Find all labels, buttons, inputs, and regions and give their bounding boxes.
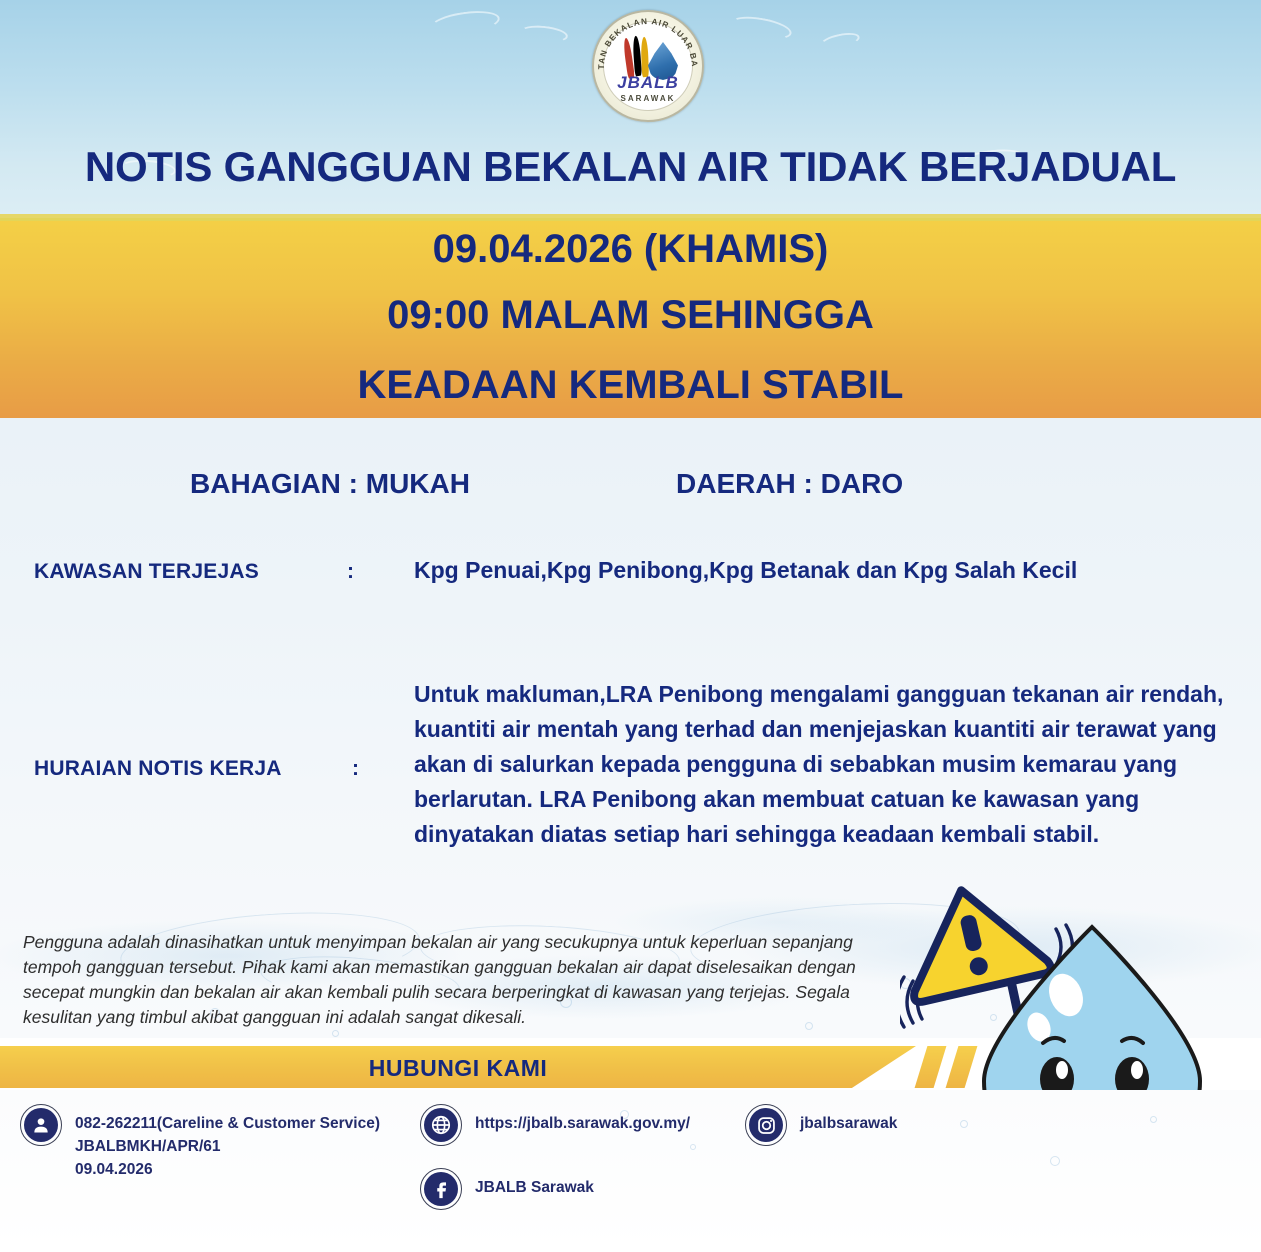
instagram-icon: [745, 1104, 787, 1146]
banner-stripe-1: [915, 1046, 947, 1088]
contact-instagram[interactable]: jbalbsarawak: [745, 1104, 1045, 1146]
kawasan-terjejas-label: KAWASAN TERJEJAS: [34, 560, 259, 584]
contact-facebook[interactable]: JBALB Sarawak: [420, 1168, 740, 1210]
daerah-label: DAERAH : DARO: [676, 468, 903, 500]
notice-time-end: KEADAAN KEMBALI STABIL: [0, 363, 1261, 408]
logo-sarawak-label: SARAWAK: [592, 94, 704, 103]
notice-date: 09.04.2026 (KHAMIS): [0, 227, 1261, 272]
logo-wordmark: JBALB: [592, 73, 704, 93]
huraian-colon: :: [352, 757, 359, 781]
contact-website[interactable]: https://jbalb.sarawak.gov.my/: [420, 1104, 740, 1146]
bahagian-label: BAHAGIAN : MUKAH: [190, 468, 470, 500]
contact-banner-title: HUBUNGI KAMI: [0, 1055, 916, 1082]
header-blue-band: JABATAN BEKALAN AIR LUAR BANDAR JBALB SA…: [0, 0, 1261, 218]
page-title: NOTIS GANGGUAN BEKALAN AIR TIDAK BERJADU…: [0, 143, 1261, 191]
kawasan-terjejas-value: Kpg Penuai,Kpg Penibong,Kpg Betanak dan …: [414, 557, 1077, 584]
contact-phone-text: 082-262211(Careline & Customer Service) …: [75, 1104, 380, 1181]
warning-triangle-icon: [900, 885, 1052, 1003]
kawasan-colon: :: [347, 560, 354, 584]
contact-website-text: https://jbalb.sarawak.gov.my/: [475, 1104, 690, 1135]
contact-facebook-text: JBALB Sarawak: [475, 1168, 594, 1199]
contact-banner: HUBUNGI KAMI: [0, 1046, 1000, 1088]
notice-time-start: 09:00 MALAM SEHINGGA: [0, 293, 1261, 338]
person-icon: [20, 1104, 62, 1146]
huraian-notis-kerja-label: HURAIAN NOTIS KERJA: [34, 757, 282, 781]
water-disruption-notice-poster: JABATAN BEKALAN AIR LUAR BANDAR JBALB SA…: [0, 0, 1261, 1252]
disclaimer-text: Pengguna adalah dinasihatkan untuk menyi…: [23, 930, 908, 1030]
jbalb-logo: JABATAN BEKALAN AIR LUAR BANDAR JBALB SA…: [592, 10, 704, 122]
globe-icon: [420, 1104, 462, 1146]
banner-stripe-2: [946, 1046, 978, 1088]
contact-phone[interactable]: 082-262211(Careline & Customer Service) …: [20, 1104, 400, 1181]
band-divider: [0, 218, 1261, 221]
contact-footer: 082-262211(Careline & Customer Service) …: [0, 1090, 1261, 1252]
huraian-notis-kerja-value: Untuk makluman,LRA Penibong mengalami ga…: [414, 677, 1239, 852]
facebook-icon: [420, 1168, 462, 1210]
contact-instagram-text: jbalbsarawak: [800, 1104, 897, 1135]
